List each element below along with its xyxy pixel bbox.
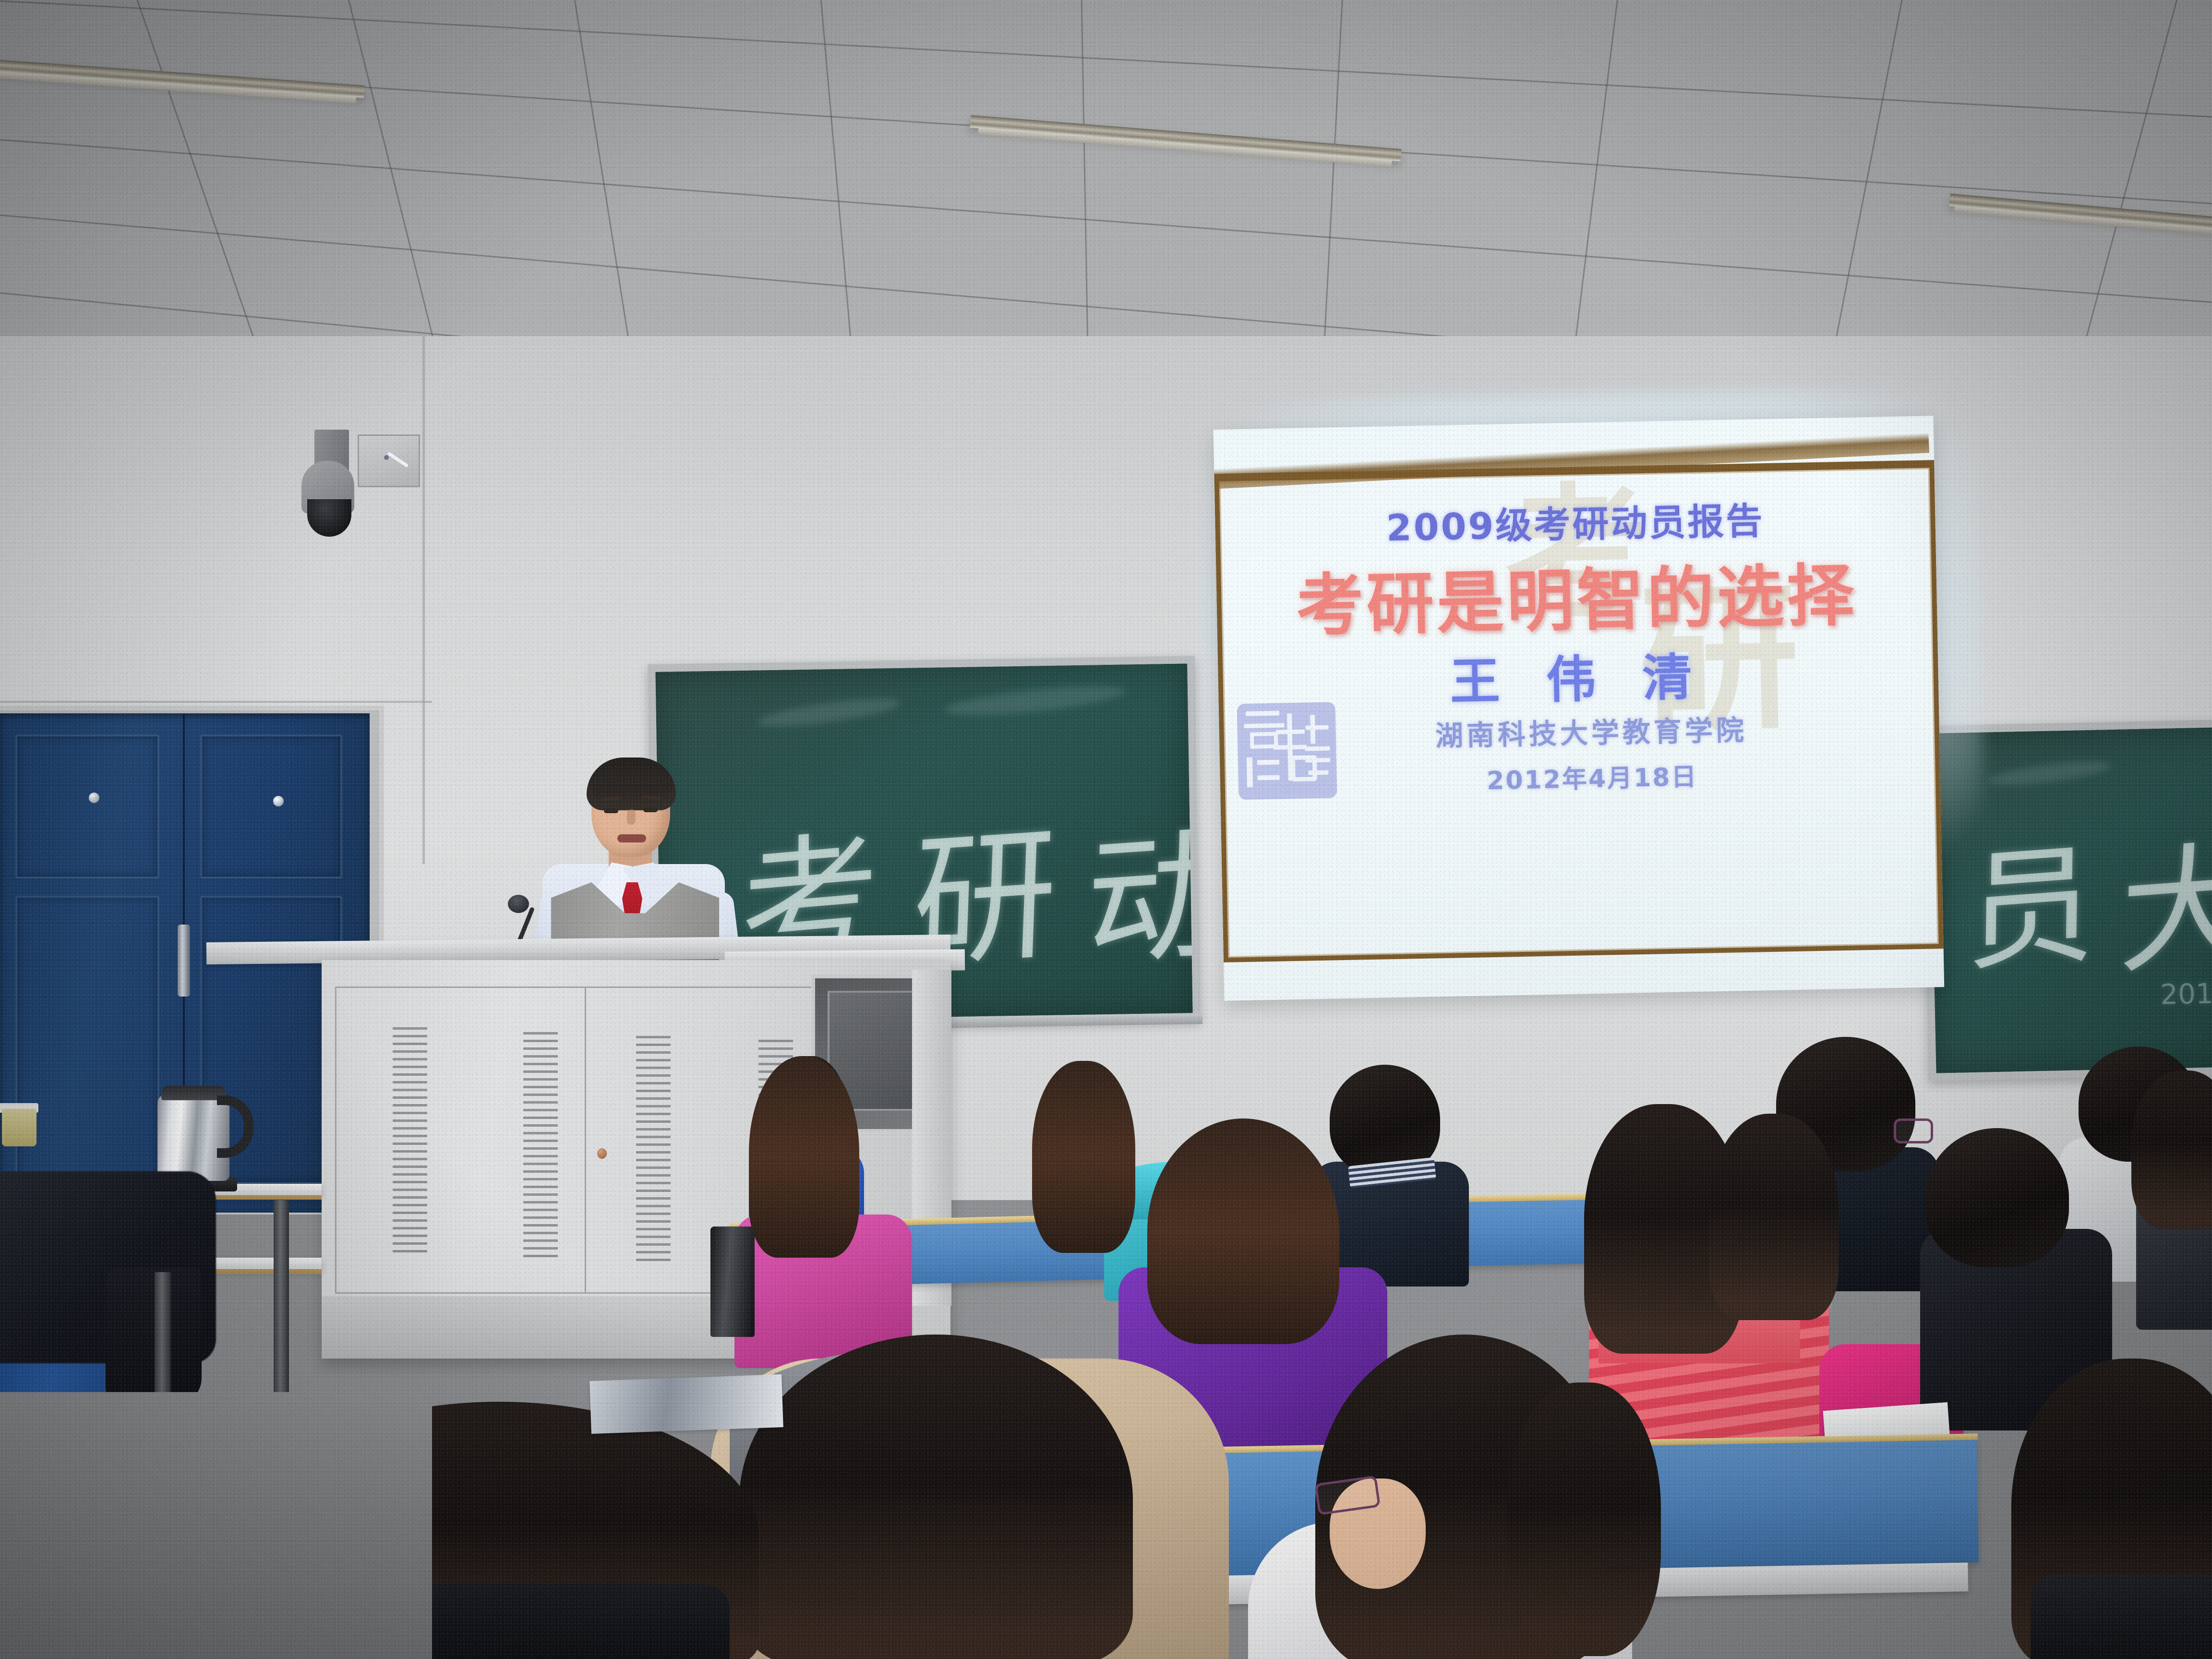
- camera-box-highlight: [387, 452, 409, 468]
- podium-vent-slots: [393, 1027, 427, 1258]
- draped-coat-sleeve: [106, 1267, 202, 1407]
- kettle-lid: [161, 1086, 226, 1100]
- glasses-icon: [1894, 1118, 1933, 1143]
- camera-wall-box: [358, 434, 420, 487]
- desk-leg: [274, 1200, 289, 1402]
- speaker-eye-left: [604, 808, 618, 813]
- microphone-icon: [508, 895, 529, 913]
- desk-papers: [589, 1374, 783, 1434]
- podium-vent-slots: [636, 1036, 671, 1266]
- speaker-eye-right: [643, 807, 658, 812]
- blackboard-left-char-3: 动: [1084, 779, 1201, 995]
- projection-screen-area: 考 研 2009级考研动员报告 考研是明智的选择 王 伟 清 湖南科技大学教育学…: [1214, 415, 1974, 1054]
- projection-screen: 考 研 2009级考研动员报告 考研是明智的选择 王 伟 清 湖南科技大学教育学…: [1214, 416, 1945, 1001]
- door-handle[interactable]: [178, 925, 190, 997]
- podium-door-split: [585, 988, 586, 1292]
- podium-lock-icon[interactable]: [597, 1148, 607, 1159]
- blackboard-right-note: 2012: [2160, 977, 2212, 1011]
- seal-stamp-icon: [1237, 702, 1337, 800]
- blackboard-right-char-2: 大: [2117, 794, 2212, 1000]
- classroom-photo-scene: 考 研 动 员 大 会 2012 考 研 2009级考研动员报告 考研是明智的选…: [0, 0, 2212, 1659]
- floor: [0, 1392, 432, 1659]
- speaker-nose: [627, 809, 636, 825]
- speaker-mouth: [617, 834, 646, 842]
- ceiling: [0, 0, 2212, 365]
- vacuum-flask: [710, 1226, 755, 1337]
- podium-vent-slots: [523, 1032, 558, 1262]
- ceiling-tile-grid: [0, 0, 2212, 365]
- camera-indicator-dot: [384, 455, 389, 460]
- cup: [2, 1109, 36, 1146]
